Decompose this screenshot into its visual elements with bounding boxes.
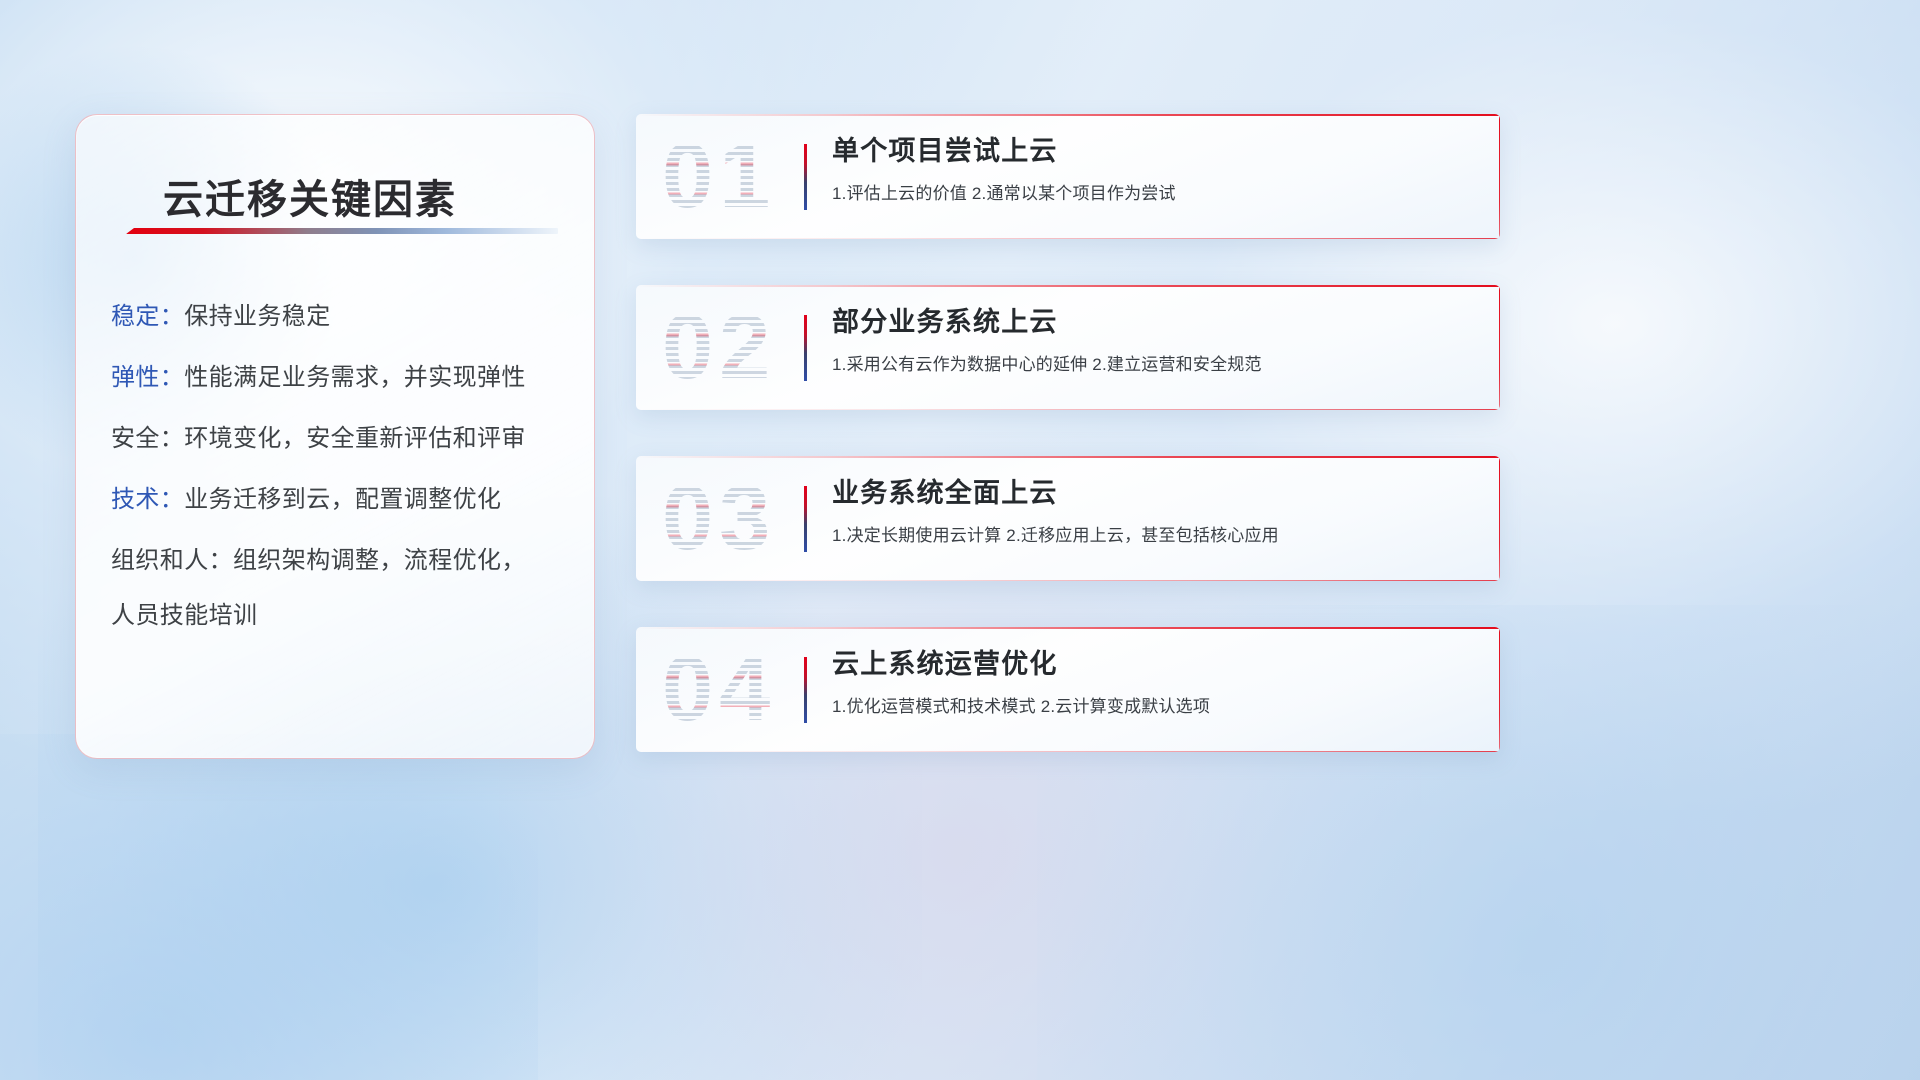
key-factor-label: 弹性： [111,364,184,391]
step-subtitle: 1.评估上云的价值 2.通常以某个项目作为尝试 [832,179,1474,204]
key-factor-text: 性能满足业务需求，并实现弹性 [184,364,526,391]
key-factor-text: 组织架构调整，流程优化， [233,547,526,574]
slide-stage: 云迁移关键因素 稳定：保持业务稳定弹性：性能满足业务需求，并实现弹性安全：环境变… [0,0,1920,1080]
key-factor-text: 保持业务稳定 [184,303,330,330]
title-underline-gradient [126,228,558,234]
step-divider-bar [804,315,807,381]
step-text-block: 单个项目尝试上云1.评估上云的价值 2.通常以某个项目作为尝试 [832,136,1474,204]
key-factors-panel: 云迁移关键因素 稳定：保持业务稳定弹性：性能满足业务需求，并实现弹性安全：环境变… [75,114,595,759]
key-factor-label: 组织和人： [111,547,233,574]
card-bottom-accent-line [636,238,1500,239]
step-title: 部分业务系统上云 [832,307,1474,338]
step-text-block: 业务系统全面上云1.决定长期使用云计算 2.迁移应用上云，甚至包括核心应用 [832,478,1474,546]
key-factor-label: 技术： [111,486,184,513]
key-factor-text: 业务迁移到云，配置调整优化 [184,486,501,513]
step-divider-bar [804,144,807,210]
step-title: 单个项目尝试上云 [832,136,1474,167]
key-factor-label: 安全： [111,425,184,452]
card-bottom-accent-line [636,580,1500,581]
step-text-block: 部分业务系统上云1.采用公有云作为数据中心的延伸 2.建立运营和安全规范 [832,307,1474,375]
step-divider-bar [804,657,807,723]
key-factor-item: 技术：业务迁移到云，配置调整优化 [111,488,572,512]
panel-title: 云迁移关键因素 [163,167,457,225]
migration-step-card[interactable]: 0404云上系统运营优化1.优化运营模式和技术模式 2.云计算变成默认选项 [636,627,1500,752]
step-title: 云上系统运营优化 [832,649,1474,680]
step-subtitle: 1.决定长期使用云计算 2.迁移应用上云，甚至包括核心应用 [832,521,1474,546]
migration-step-card[interactable]: 0101单个项目尝试上云1.评估上云的价值 2.通常以某个项目作为尝试 [636,114,1500,239]
step-title: 业务系统全面上云 [832,478,1474,509]
key-factor-item: 弹性：性能满足业务需求，并实现弹性 [111,366,572,390]
card-bottom-accent-line [636,409,1500,410]
key-factors-list: 稳定：保持业务稳定弹性：性能满足业务需求，并实现弹性安全：环境变化，安全重新评估… [111,305,572,665]
key-factor-text: 人员技能培训 [111,602,257,629]
key-factor-item: 安全：环境变化，安全重新评估和评审 [111,427,572,451]
step-text-block: 云上系统运营优化1.优化运营模式和技术模式 2.云计算变成默认选项 [832,649,1474,717]
key-factor-label: 稳定： [111,303,184,330]
migration-step-card[interactable]: 0303业务系统全面上云1.决定长期使用云计算 2.迁移应用上云，甚至包括核心应… [636,456,1500,581]
key-factor-item: 稳定：保持业务稳定 [111,305,572,329]
key-factor-item: 人员技能培训 [111,604,572,628]
step-subtitle: 1.采用公有云作为数据中心的延伸 2.建立运营和安全规范 [832,350,1474,375]
migration-step-card[interactable]: 0202部分业务系统上云1.采用公有云作为数据中心的延伸 2.建立运营和安全规范 [636,285,1500,410]
key-factor-text: 环境变化，安全重新评估和评审 [184,425,526,452]
step-subtitle: 1.优化运营模式和技术模式 2.云计算变成默认选项 [832,692,1474,717]
step-divider-bar [804,486,807,552]
card-bottom-accent-line [636,751,1500,752]
key-factor-item: 组织和人：组织架构调整，流程优化， [111,549,572,573]
